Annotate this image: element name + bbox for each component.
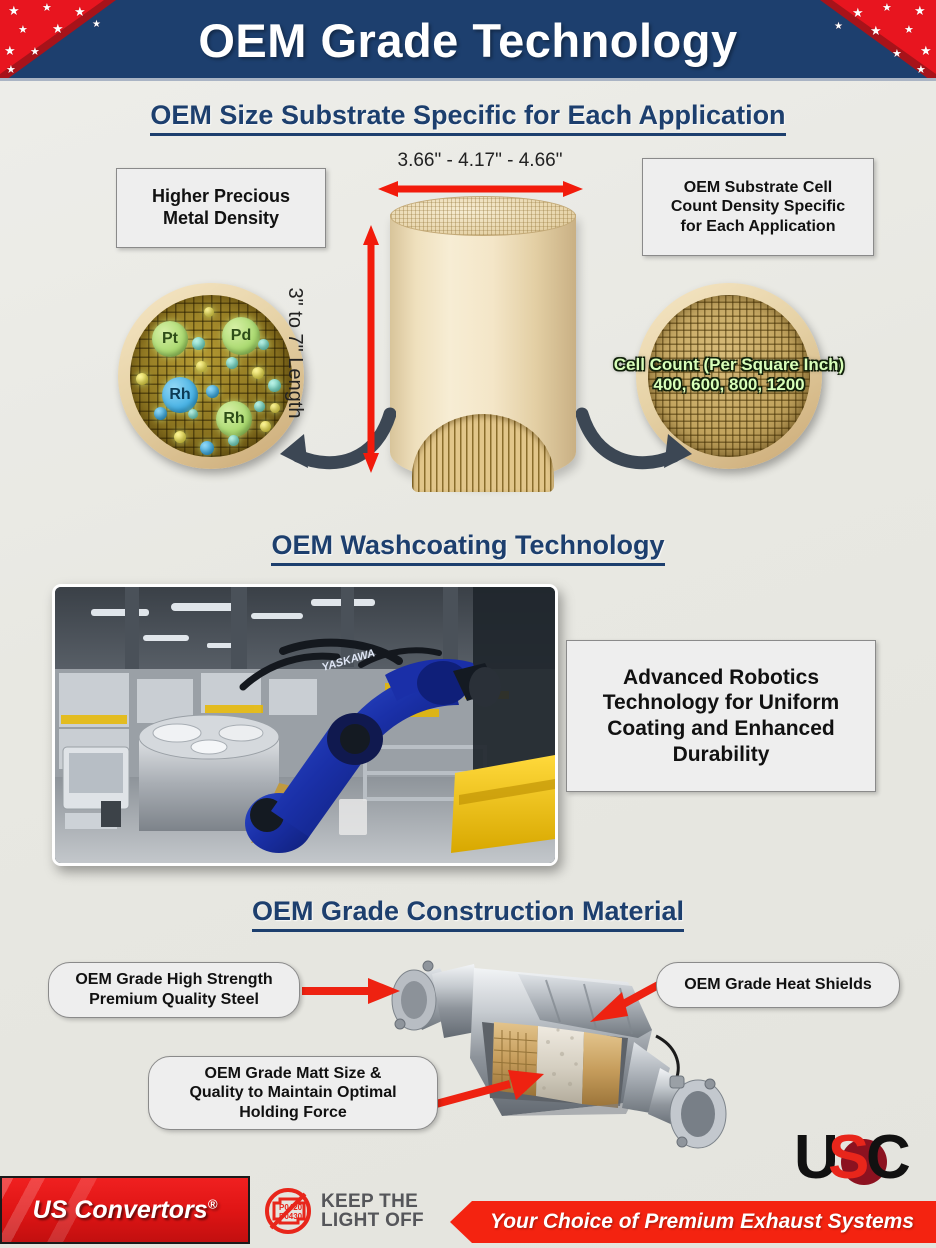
arrow-to-steel-shell xyxy=(302,978,400,1004)
callout-heat-shields: OEM Grade Heat Shields xyxy=(656,962,900,1008)
callout-mat-line2: Quality to Maintain Optimal xyxy=(189,1083,396,1103)
magnifier-core-left: Pt Pd Rh Rh xyxy=(130,295,292,457)
callout-precious-metal-density: Higher Precious Metal Density xyxy=(116,168,326,248)
section-heading-substrate-text: OEM Size Substrate Specific for Each App… xyxy=(150,100,785,136)
badge-line1: KEEP THE xyxy=(321,1192,424,1211)
callout-robotics-line1: Advanced Robotics xyxy=(623,665,819,691)
us-convertors-logo: US Convertors® xyxy=(0,1176,250,1244)
callout-mat-line1: OEM Grade Matt Size & xyxy=(205,1064,382,1084)
callout-heat-shields-text: OEM Grade Heat Shields xyxy=(684,975,872,995)
section-heading-construction-text: OEM Grade Construction Material xyxy=(252,896,684,932)
curved-arrow-to-right-magnifier xyxy=(576,398,692,474)
metal-particle xyxy=(200,441,214,455)
tagline-text: Your Choice of Premium Exhaust Systems xyxy=(472,1210,914,1234)
registered-trademark-symbol: ® xyxy=(208,1196,218,1211)
brand-name: US Convertors xyxy=(33,1196,208,1224)
metal-particle xyxy=(188,409,198,419)
metal-particle xyxy=(226,357,238,369)
metal-particle xyxy=(206,385,219,398)
section-heading-substrate: OEM Size Substrate Specific for Each App… xyxy=(0,100,936,131)
metal-particle xyxy=(254,401,265,412)
callout-cell-count-density: OEM Substrate Cell Count Density Specifi… xyxy=(642,158,874,256)
usc-logo-letter-c: C xyxy=(866,1123,911,1188)
cell-count-title: Cell Count (Per Square Inch) xyxy=(604,355,854,375)
metal-particle xyxy=(252,367,264,379)
substrate-diameter-label: 3.66" - 4.17" - 4.66" xyxy=(360,150,600,172)
metal-particle xyxy=(136,373,148,385)
callout-cell-count-line2: Count Density Specific xyxy=(671,197,845,217)
badge-line2: LIGHT OFF xyxy=(321,1211,424,1230)
callout-robotics-line2: Technology for Uniform xyxy=(603,690,839,716)
metal-particle xyxy=(258,339,269,350)
cylinder-honeycomb-top xyxy=(390,196,576,236)
metal-particle xyxy=(270,403,280,413)
callout-robotics-line4: Durability xyxy=(673,742,770,768)
page-header: ★ ★ ★ ★ ★ ★ ★ ★ ★ OEM Grade Technology ★… xyxy=(0,0,936,80)
tagline-banner: Your Choice of Premium Exhaust Systems xyxy=(450,1201,936,1243)
callout-premium-steel: OEM Grade High Strength Premium Quality … xyxy=(48,962,300,1018)
infographic-page: ★ ★ ★ ★ ★ ★ ★ ★ ★ OEM Grade Technology ★… xyxy=(0,0,936,1248)
diameter-arrow xyxy=(378,181,583,197)
substrate-length-label: 3" to 7" Length xyxy=(283,258,306,448)
precious-metal-bubble-pt: Pt xyxy=(152,321,188,357)
section-heading-washcoating: OEM Washcoating Technology xyxy=(0,530,936,561)
callout-cell-count-line1: OEM Substrate Cell xyxy=(684,178,832,198)
metal-particle xyxy=(204,307,214,317)
metal-particle xyxy=(174,431,186,443)
magnified-substrate-precious-metals: Pt Pd Rh Rh xyxy=(118,283,304,469)
callout-mat-line3: Holding Force xyxy=(239,1103,347,1123)
metal-particle xyxy=(268,379,281,392)
callout-cell-count-line3: for Each Application xyxy=(681,217,836,237)
no-check-engine-light-icon: P0420 P0430 xyxy=(262,1187,314,1235)
metal-particle xyxy=(260,421,271,432)
arrow-to-heat-shields xyxy=(584,978,664,1026)
metal-particle xyxy=(192,337,205,350)
callout-advanced-robotics: Advanced Robotics Technology for Uniform… xyxy=(566,640,876,792)
page-title: OEM Grade Technology xyxy=(0,0,936,80)
usc-logo-letter-s: S xyxy=(828,1123,869,1188)
washcoating-robot-photo: YASKAWA xyxy=(52,584,558,866)
callout-mat-holding-force: OEM Grade Matt Size & Quality to Maintai… xyxy=(148,1056,438,1130)
us-convertors-wordmark: US Convertors® xyxy=(33,1196,218,1225)
metal-particle xyxy=(196,361,207,372)
precious-metal-bubble-rh-2: Rh xyxy=(216,401,252,437)
usc-logo: U S C xyxy=(792,1122,922,1188)
callout-steel-line1: OEM Grade High Strength xyxy=(75,970,272,990)
section-heading-construction: OEM Grade Construction Material xyxy=(0,896,936,927)
cell-count-values: 400, 600, 800, 1200 xyxy=(604,375,854,395)
arrow-to-mat xyxy=(436,1068,546,1110)
callout-robotics-line3: Coating and Enhanced xyxy=(607,716,835,742)
keep-the-light-off-badge: P0420 P0430 KEEP THE LIGHT OFF xyxy=(262,1186,442,1236)
cell-count-overlay: Cell Count (Per Square Inch) 400, 600, 8… xyxy=(604,355,854,395)
metal-particle xyxy=(228,435,239,446)
substrate-cylinder xyxy=(390,196,576,496)
callout-precious-metal-line2: Metal Density xyxy=(163,208,279,230)
length-arrow xyxy=(363,225,379,473)
callout-steel-line2: Premium Quality Steel xyxy=(89,990,259,1010)
metal-particle xyxy=(154,407,167,420)
header-divider xyxy=(0,78,936,81)
precious-metal-bubble-rh-1: Rh xyxy=(162,377,198,413)
precious-metal-bubble-pd: Pd xyxy=(222,317,260,355)
keep-light-off-text: KEEP THE LIGHT OFF xyxy=(321,1192,424,1231)
section-heading-washcoating-text: OEM Washcoating Technology xyxy=(271,530,664,566)
callout-precious-metal-line1: Higher Precious xyxy=(152,186,290,208)
